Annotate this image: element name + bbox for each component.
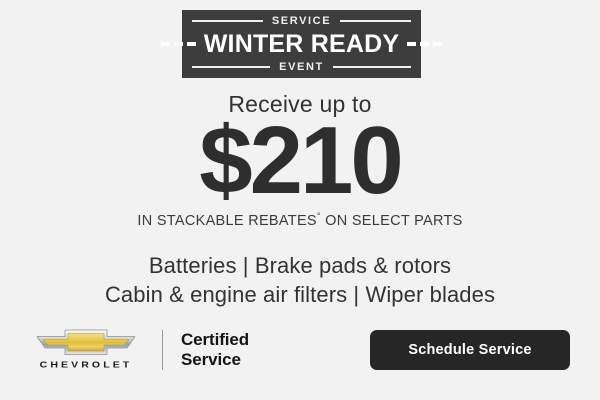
certified-line-2: Service bbox=[181, 350, 249, 370]
certified-service-label: Certified Service bbox=[181, 330, 249, 370]
offer-rebates-line: IN STACKABLE REBATES° ON SELECT PARTS bbox=[0, 214, 600, 229]
product-line-1: Batteries | Brake pads & rotors bbox=[0, 251, 600, 280]
badge-bottom-row: EVENT bbox=[182, 60, 421, 74]
dash-icon bbox=[420, 42, 429, 46]
certified-line-1: Certified bbox=[181, 330, 249, 350]
brand-lockup: CHEVROLET Certified Service bbox=[30, 322, 249, 378]
dash-icon bbox=[187, 42, 196, 46]
product-line-2: Cabin & engine air filters | Wiper blade… bbox=[0, 280, 600, 309]
advertisement-banner: SERVICE WINTER READY EVENT Receive up to… bbox=[0, 0, 600, 400]
dash-icon bbox=[433, 42, 442, 46]
footer: CHEVROLET Certified Service Schedule Ser… bbox=[30, 322, 570, 378]
badge-kicker-top: SERVICE bbox=[263, 16, 340, 27]
badge-dashes-right bbox=[407, 42, 442, 46]
badge-rule-right bbox=[333, 66, 411, 68]
badge-top-row: SERVICE bbox=[182, 14, 421, 28]
dash-icon bbox=[407, 42, 416, 46]
rebates-text-before: IN STACKABLE REBATES bbox=[137, 213, 317, 229]
schedule-service-button[interactable]: Schedule Service bbox=[370, 330, 570, 370]
badge-rule-right bbox=[340, 20, 411, 22]
badge-title: WINTER READY bbox=[196, 32, 407, 57]
badge-title-row: WINTER READY bbox=[182, 29, 421, 59]
badge-dashes-left bbox=[161, 42, 196, 46]
chevrolet-logo: CHEVROLET bbox=[30, 329, 142, 371]
dash-icon bbox=[161, 42, 170, 46]
rebates-text-after: ON SELECT PARTS bbox=[321, 213, 463, 229]
dash-icon bbox=[174, 42, 183, 46]
lockup-divider bbox=[162, 330, 163, 370]
winter-ready-event-badge: SERVICE WINTER READY EVENT bbox=[182, 10, 421, 78]
badge-rule-left bbox=[192, 66, 270, 68]
badge-kicker-bottom: EVENT bbox=[270, 62, 333, 73]
chevrolet-wordmark: CHEVROLET bbox=[40, 361, 133, 370]
chevrolet-bowtie-icon bbox=[32, 329, 140, 356]
offer-product-list: Batteries | Brake pads & rotors Cabin & … bbox=[0, 251, 600, 309]
offer-amount: $210 bbox=[0, 113, 600, 209]
badge-rule-left bbox=[192, 20, 263, 22]
